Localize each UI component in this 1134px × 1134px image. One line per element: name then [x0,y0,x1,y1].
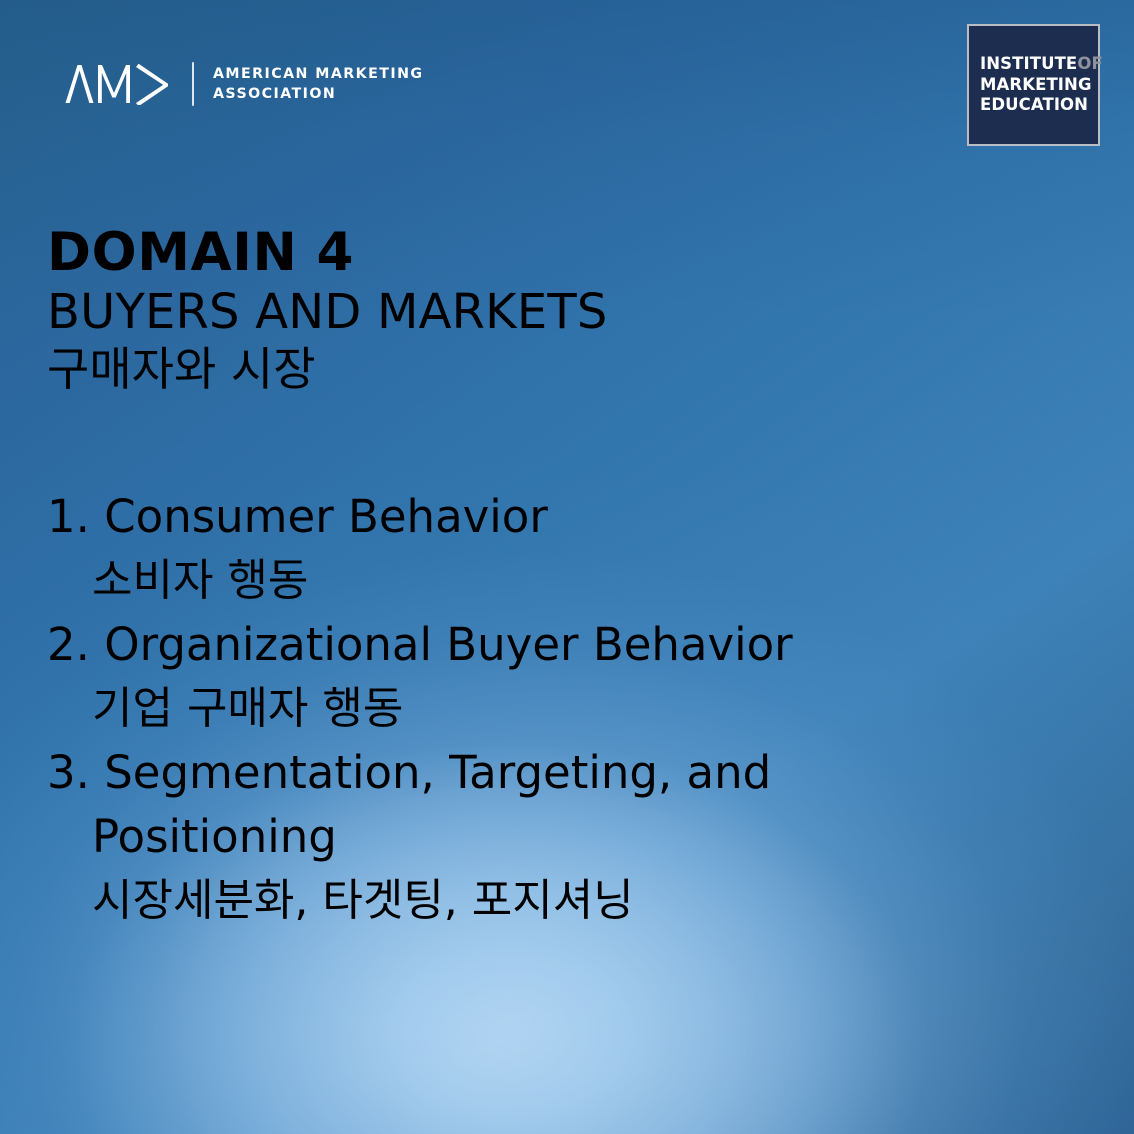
ama-wordmark-line1: AMERICAN MARKETING [213,64,423,84]
ama-logo: AMERICAN MARKETING ASSOCIATION [64,58,423,110]
topic-2-ko: 기업 구매자 행동 [47,677,793,741]
topic-3-ko: 시장세분화, 타겟팅, 포지셔닝 [47,869,793,933]
badge-line-1: INSTITUTEOF [980,54,1098,75]
logo-divider [192,62,194,106]
ama-chevron-mark [64,63,172,105]
badge-of-text: OF [1077,54,1103,73]
topic-3-en-cont: Positioning [47,805,793,869]
badge-line-2: MARKETING [980,75,1098,96]
list-item: 1. Consumer Behavior 소비자 행동 [47,485,793,613]
ama-wordmark: AMERICAN MARKETING ASSOCIATION [213,64,423,104]
topic-2-en: 2. Organizational Buyer Behavior [47,613,793,677]
slide-canvas: AMERICAN MARKETING ASSOCIATION INSTITUTE… [0,0,1134,1134]
topic-list: 1. Consumer Behavior 소비자 행동 2. Organizat… [47,485,793,933]
topic-1-ko: 소비자 행동 [47,549,793,613]
list-item: 2. Organizational Buyer Behavior 기업 구매자 … [47,613,793,741]
list-item: 3. Segmentation, Targeting, and Position… [47,741,793,933]
domain-subtitle-en: BUYERS AND MARKETS [47,284,608,340]
topic-1-en: 1. Consumer Behavior [47,485,793,549]
topic-3-en: 3. Segmentation, Targeting, and [47,741,793,805]
badge-line-3: EDUCATION [980,95,1098,116]
domain-subtitle-ko: 구매자와 시장 [47,340,608,398]
ama-wordmark-line2: ASSOCIATION [213,84,423,104]
title-block: DOMAIN 4 BUYERS AND MARKETS 구매자와 시장 [47,222,608,398]
institute-of-marketing-education-badge: INSTITUTEOF MARKETING EDUCATION [967,24,1100,146]
badge-institute-text: INSTITUTE [980,54,1077,73]
domain-heading: DOMAIN 4 [47,222,608,284]
